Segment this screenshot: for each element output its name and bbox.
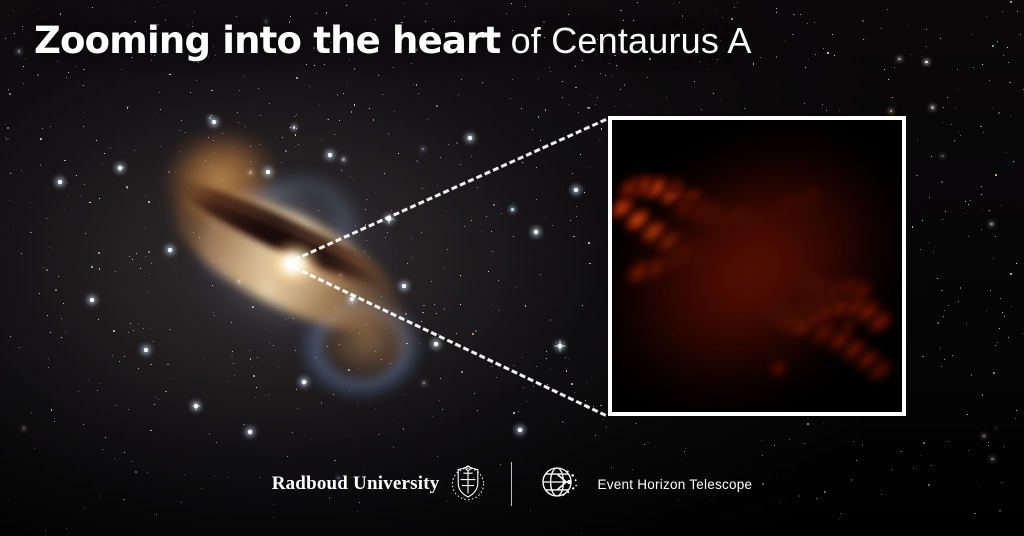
eht-label: Event Horizon Telescope [597,477,752,492]
footer-divider [511,462,512,506]
title-light-part: of Centaurus A [500,20,751,61]
event-horizon-telescope-logo: Event Horizon Telescope [538,459,752,510]
radboud-crest-icon [451,461,485,508]
radboud-label: Radboud University [272,473,440,495]
eht-globe-icon [538,459,584,510]
page-title: Zooming into the heart of Centaurus A [34,22,752,59]
poster-canvas: Zooming into the heart of Centaurus A Ra… [0,0,1024,536]
eht-inset-frame [608,116,906,416]
title-bold-part: Zooming into the heart [34,19,500,62]
eht-jet-image [612,120,902,412]
radboud-university-logo: Radboud University [272,461,486,508]
footer-logos: Radboud University [0,456,1024,512]
